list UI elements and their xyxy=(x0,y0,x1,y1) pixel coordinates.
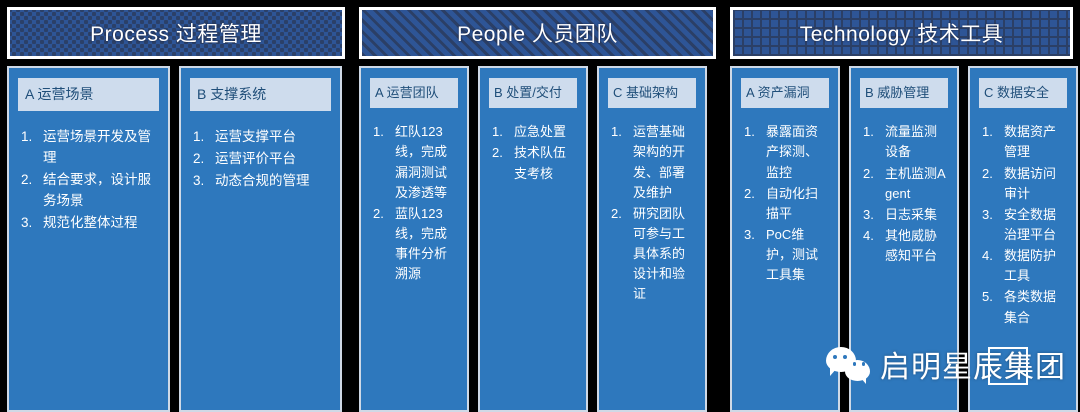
list-item-number: 3. xyxy=(980,205,1004,225)
list-item: 2. 技术队伍支考核 xyxy=(490,143,578,183)
card-people-c[interactable]: C 基础架构 1. 运营基础架构的开发、部署及维护 2. 研究团队可参与工具体系… xyxy=(597,66,707,412)
card-label-technology-c: C 数据安全 xyxy=(979,78,1067,108)
list-item-number: 2. xyxy=(19,170,43,191)
list-item: 3. 规范化整体过程 xyxy=(19,213,160,234)
card-list-people-b: 1. 应急处置 2. 技术队伍支考核 xyxy=(486,122,580,184)
card-label-technology-a: A 资产漏洞 xyxy=(741,78,829,108)
card-people-b[interactable]: B 处置/交付 1. 应急处置 2. 技术队伍支考核 xyxy=(478,66,588,412)
list-item: 2. 数据访问审计 xyxy=(980,164,1068,204)
card-row-people: A 运营团队 1. 红队123线，完成漏洞测试及渗透等 2. 蓝队123线，完成… xyxy=(352,59,723,412)
list-item-text: 研究团队可参与工具体系的设计和验证 xyxy=(633,204,697,305)
list-item-text: 动态合规的管理 xyxy=(215,171,332,192)
list-item-number: 1. xyxy=(19,127,43,148)
list-item-text: 流量监测设备 xyxy=(885,122,949,162)
list-item: 1. 暴露面资产探测、监控 xyxy=(742,122,830,182)
card-row-process: A 运营场景 1. 运营场景开发及管理 2. 结合要求，设计服务场景 3. 规范… xyxy=(0,59,352,412)
list-item-number: 3. xyxy=(191,171,215,192)
card-technology-b[interactable]: B 威胁管理 1. 流量监测设备 2. 主机监测Agent 3. 日志采集 xyxy=(849,66,959,412)
column-process: Process 过程管理 A 运营场景 1. 运营场景开发及管理 2. 结合要求… xyxy=(0,0,352,412)
card-list-process-b: 1. 运营支撑平台 2. 运营评价平台 3. 动态合规的管理 xyxy=(187,127,334,193)
list-item-number: 2. xyxy=(191,149,215,170)
column-header-process: Process 过程管理 xyxy=(7,7,345,59)
list-item-number: 4. xyxy=(980,246,1004,266)
column-header-technology: Technology 技术工具 xyxy=(730,7,1073,59)
column-technology: Technology 技术工具 A 资产漏洞 1. 暴露面资产探测、监控 2. … xyxy=(723,0,1080,412)
list-item-text: 蓝队123线，完成事件分析溯源 xyxy=(395,204,459,285)
column-header-people-label: People 人员团队 xyxy=(457,18,618,48)
card-technology-a[interactable]: A 资产漏洞 1. 暴露面资产探测、监控 2. 自动化扫描平 3. PoC维护，… xyxy=(730,66,840,412)
list-item-number: 4. xyxy=(861,226,885,246)
list-item-text: 规范化整体过程 xyxy=(43,213,160,234)
list-item: 2. 结合要求，设计服务场景 xyxy=(19,170,160,212)
list-item: 2. 自动化扫描平 xyxy=(742,184,830,224)
list-item: 1. 流量监测设备 xyxy=(861,122,949,162)
list-item: 1. 运营支撑平台 xyxy=(191,127,332,148)
column-header-technology-label: Technology 技术工具 xyxy=(800,18,1004,48)
list-item-number: 1. xyxy=(490,122,514,142)
column-header-process-label: Process 过程管理 xyxy=(90,18,262,48)
card-process-a[interactable]: A 运营场景 1. 运营场景开发及管理 2. 结合要求，设计服务场景 3. 规范… xyxy=(7,66,170,412)
list-item-text: 运营场景开发及管理 xyxy=(43,127,160,169)
list-item-number: 1. xyxy=(609,122,633,142)
list-item-number: 2. xyxy=(980,164,1004,184)
list-item-text: 运营评价平台 xyxy=(215,149,332,170)
list-item-text: 安全数据治理平台 xyxy=(1004,205,1068,245)
card-people-a[interactable]: A 运营团队 1. 红队123线，完成漏洞测试及渗透等 2. 蓝队123线，完成… xyxy=(359,66,469,412)
card-list-technology-b: 1. 流量监测设备 2. 主机监测Agent 3. 日志采集 4. 其他威胁感知… xyxy=(857,122,951,267)
list-item-text: 数据资产管理 xyxy=(1004,122,1068,162)
list-item-text: 日志采集 xyxy=(885,205,949,225)
list-item-number: 3. xyxy=(742,225,766,245)
list-item-number: 1. xyxy=(742,122,766,142)
column-header-people: People 人员团队 xyxy=(359,7,716,59)
card-label-technology-b: B 威胁管理 xyxy=(860,78,948,108)
list-item-text: 其他威胁感知平台 xyxy=(885,226,949,266)
card-label-people-b: B 处置/交付 xyxy=(489,78,577,108)
list-item-text: 红队123线，完成漏洞测试及渗透等 xyxy=(395,122,459,203)
list-item-text: PoC维护，测试工具集 xyxy=(766,225,830,285)
list-item-number: 1. xyxy=(191,127,215,148)
card-row-technology: A 资产漏洞 1. 暴露面资产探测、监控 2. 自动化扫描平 3. PoC维护，… xyxy=(723,59,1080,412)
card-list-people-a: 1. 红队123线，完成漏洞测试及渗透等 2. 蓝队123线，完成事件分析溯源 xyxy=(367,122,461,285)
list-item: 2. 研究团队可参与工具体系的设计和验证 xyxy=(609,204,697,305)
list-item: 1. 运营场景开发及管理 xyxy=(19,127,160,169)
list-item-text: 运营支撑平台 xyxy=(215,127,332,148)
list-item-text: 数据访问审计 xyxy=(1004,164,1068,204)
card-label-process-b: B 支撑系统 xyxy=(190,78,331,111)
card-list-people-c: 1. 运营基础架构的开发、部署及维护 2. 研究团队可参与工具体系的设计和验证 xyxy=(605,122,699,305)
list-item: 4. 数据防护工具 xyxy=(980,246,1068,286)
list-item-number: 1. xyxy=(371,122,395,142)
list-item: 3. 安全数据治理平台 xyxy=(980,205,1068,245)
list-item: 2. 主机监测Agent xyxy=(861,164,949,204)
list-item-number: 5. xyxy=(980,287,1004,307)
list-item-text: 主机监测Agent xyxy=(885,164,949,204)
list-item: 3. PoC维护，测试工具集 xyxy=(742,225,830,285)
list-item: 1. 应急处置 xyxy=(490,122,578,142)
list-item-number: 2. xyxy=(371,204,395,224)
list-item: 4. 其他威胁感知平台 xyxy=(861,226,949,266)
list-item: 1. 红队123线，完成漏洞测试及渗透等 xyxy=(371,122,459,203)
list-item-text: 应急处置 xyxy=(514,122,578,142)
list-item: 3. 动态合规的管理 xyxy=(191,171,332,192)
list-item-text: 自动化扫描平 xyxy=(766,184,830,224)
list-item-text: 数据防护工具 xyxy=(1004,246,1068,286)
list-item-text: 结合要求，设计服务场景 xyxy=(43,170,160,212)
list-item-number: 2. xyxy=(490,143,514,163)
list-item-text: 运营基础架构的开发、部署及维护 xyxy=(633,122,697,203)
list-item: 1. 数据资产管理 xyxy=(980,122,1068,162)
diagram-board: Process 过程管理 A 运营场景 1. 运营场景开发及管理 2. 结合要求… xyxy=(0,0,1080,412)
card-label-process-a: A 运营场景 xyxy=(18,78,159,111)
list-item-number: 1. xyxy=(861,122,885,142)
list-item: 3. 日志采集 xyxy=(861,205,949,225)
list-item-number: 1. xyxy=(980,122,1004,142)
list-item-number: 3. xyxy=(861,205,885,225)
list-item-number: 2. xyxy=(742,184,766,204)
list-item: 2. 蓝队123线，完成事件分析溯源 xyxy=(371,204,459,285)
list-item: 2. 运营评价平台 xyxy=(191,149,332,170)
list-item-text: 各类数据集合 xyxy=(1004,287,1068,327)
card-list-technology-c: 1. 数据资产管理 2. 数据访问审计 3. 安全数据治理平台 4. 数据防护工… xyxy=(976,122,1070,328)
list-item-number: 3. xyxy=(19,213,43,234)
list-item-text: 暴露面资产探测、监控 xyxy=(766,122,830,182)
card-label-people-c: C 基础架构 xyxy=(608,78,696,108)
list-item-number: 2. xyxy=(861,164,885,184)
list-item-text: 技术队伍支考核 xyxy=(514,143,578,183)
card-process-b[interactable]: B 支撑系统 1. 运营支撑平台 2. 运营评价平台 3. 动态合规的管理 xyxy=(179,66,342,412)
list-item-number: 2. xyxy=(609,204,633,224)
list-item: 5. 各类数据集合 xyxy=(980,287,1068,327)
list-item: 1. 运营基础架构的开发、部署及维护 xyxy=(609,122,697,203)
card-list-technology-a: 1. 暴露面资产探测、监控 2. 自动化扫描平 3. PoC维护，测试工具集 xyxy=(738,122,832,286)
card-technology-c[interactable]: C 数据安全 1. 数据资产管理 2. 数据访问审计 3. 安全数据治理平台 xyxy=(968,66,1078,412)
card-list-process-a: 1. 运营场景开发及管理 2. 结合要求，设计服务场景 3. 规范化整体过程 xyxy=(15,127,162,235)
card-label-people-a: A 运营团队 xyxy=(370,78,458,108)
column-people: People 人员团队 A 运营团队 1. 红队123线，完成漏洞测试及渗透等 … xyxy=(352,0,723,412)
